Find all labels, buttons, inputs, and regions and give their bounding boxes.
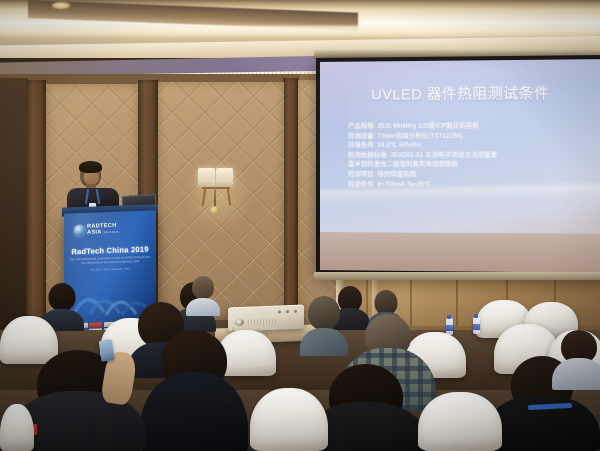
slide-line: 检测依据标准: JESD51-51 实测电学测试方法测量紫 — [348, 150, 590, 160]
projector-vent — [248, 319, 276, 326]
podium-subline: The 15th International Conference & Expo… — [68, 256, 152, 267]
presenter-hair — [79, 161, 102, 173]
logo-sub: 2019.9.23-26 — [103, 230, 118, 234]
chair — [418, 392, 502, 451]
radtech-asia-logo: RADTECH ASIA 2019.9.23-26 — [74, 223, 148, 237]
ceiling-cove-light — [0, 26, 600, 37]
smartphone — [99, 339, 115, 362]
wood-trim-pillar — [283, 78, 298, 322]
slide-line: 检测条件: If=700mA Ta=25℃ — [348, 180, 590, 190]
slide-surface: UVLED 器件热阻测试条件 产品规格: 3535 Molding 120度IC… — [320, 59, 600, 273]
screen-bottom-bar — [314, 272, 600, 280]
shoulders — [140, 372, 248, 451]
projection-screen: UVLED 器件热阻测试条件 产品规格: 3535 Molding 120度IC… — [316, 55, 600, 277]
ceiling-lamp-icon — [52, 2, 70, 9]
podium-dateline: Sep 23-26, 2019 · Shanghai, China — [68, 267, 152, 273]
slide-line: 检测项目: 结到焊盘热阻 — [348, 170, 590, 180]
chair — [0, 404, 34, 451]
head — [308, 296, 340, 330]
globe-icon — [74, 225, 85, 236]
slide-body: 产品规格: 3535 Molding 120度ICP氮化铝基板 检测设备: T3… — [348, 121, 590, 190]
head — [49, 283, 76, 311]
screen-lower-band — [320, 232, 600, 273]
slide-line: 露半部的发光二极管的真实热阻和阻抗 — [348, 160, 590, 170]
chair — [250, 388, 328, 451]
audience-member — [552, 330, 600, 390]
slide-title: UVLED 器件热阻测试条件 — [320, 82, 600, 105]
water-bottle — [446, 318, 453, 335]
slide-line: 检测设备: T3ster热阻分析仪(TST12266) — [348, 131, 590, 141]
conference-photo: UVLED 器件热阻测试条件 产品规格: 3535 Molding 120度IC… — [0, 0, 600, 451]
shoulders — [552, 358, 600, 390]
audience-member-foreground — [140, 330, 248, 451]
podium-headline: RadTech China 2019 — [64, 244, 156, 256]
logo-line-2: ASIA — [87, 229, 101, 236]
slide-line: 环境条件: 24.5℃ 50%RH — [348, 141, 590, 151]
head — [192, 276, 214, 299]
wall-sconce-lamp-icon — [197, 168, 237, 220]
water-bottle — [473, 317, 480, 334]
